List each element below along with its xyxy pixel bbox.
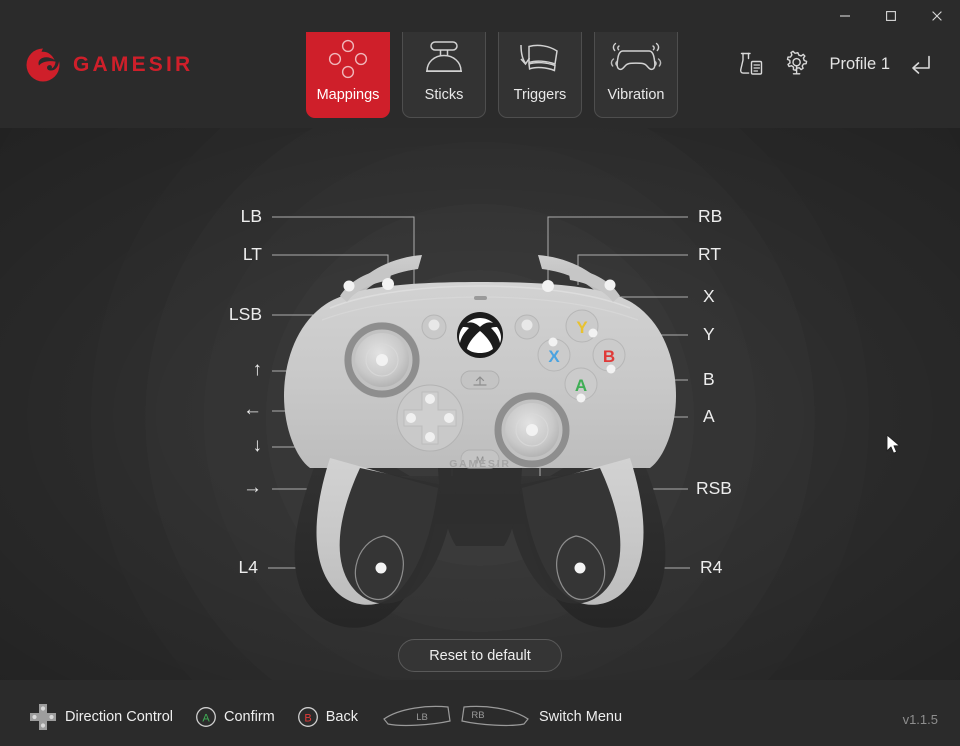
tab-label: Vibration bbox=[608, 87, 665, 103]
svg-text:LB: LB bbox=[416, 712, 428, 723]
label-lsb[interactable]: LSB bbox=[178, 304, 262, 325]
label-lt[interactable]: LT bbox=[178, 244, 262, 265]
main-nav: Mappings Sticks bbox=[306, 18, 678, 118]
maximize-button[interactable] bbox=[868, 0, 914, 32]
svg-text:A: A bbox=[575, 376, 587, 395]
hint-back: B Back bbox=[297, 706, 358, 728]
minimize-button[interactable] bbox=[822, 0, 868, 32]
label-b[interactable]: B bbox=[703, 369, 715, 390]
label-dpad-left[interactable]: ← bbox=[178, 399, 262, 421]
svg-text:X: X bbox=[548, 347, 560, 366]
gear-icon[interactable] bbox=[783, 50, 811, 78]
profile-group: Profile 1 bbox=[739, 50, 932, 78]
dpad-buttons-icon bbox=[326, 33, 370, 85]
svg-text:A: A bbox=[202, 713, 210, 725]
hint-direction-control: Direction Control bbox=[28, 702, 173, 732]
hint-switch-menu: LB RB Switch Menu bbox=[380, 703, 622, 731]
label-dpad-right[interactable]: → bbox=[178, 477, 262, 499]
svg-text:B: B bbox=[603, 347, 615, 366]
app-window: GAMESIR Mappings bbox=[0, 0, 960, 746]
svg-text:Y: Y bbox=[576, 318, 588, 337]
brand-name: GAMESIR bbox=[73, 53, 193, 77]
controller-diagram: M Y X bbox=[0, 128, 960, 680]
version-label: v1.1.5 bbox=[903, 712, 938, 727]
gamesir-logo-icon bbox=[24, 46, 62, 84]
tab-mappings[interactable]: Mappings bbox=[306, 18, 390, 118]
label-rb[interactable]: RB bbox=[698, 206, 722, 227]
label-r4[interactable]: R4 bbox=[700, 557, 722, 578]
return-arrow-icon[interactable] bbox=[908, 53, 932, 75]
label-a[interactable]: A bbox=[703, 406, 715, 427]
tab-label: Mappings bbox=[317, 87, 380, 103]
label-rt[interactable]: RT bbox=[698, 244, 721, 265]
brand: GAMESIR bbox=[24, 46, 193, 84]
label-l4[interactable]: L4 bbox=[178, 557, 258, 578]
label-x[interactable]: X bbox=[703, 286, 715, 307]
label-y[interactable]: Y bbox=[703, 324, 715, 345]
hint-label: Back bbox=[326, 709, 358, 725]
hint-label: Confirm bbox=[224, 709, 275, 725]
tab-vibration[interactable]: Vibration bbox=[594, 18, 678, 118]
footer-hints: Direction Control A Confirm B Back bbox=[0, 688, 960, 746]
b-button-icon: B bbox=[297, 706, 319, 728]
label-dpad-up[interactable]: ↑ bbox=[178, 359, 262, 381]
calibrate-document-icon[interactable] bbox=[739, 50, 765, 78]
hint-confirm: A Confirm bbox=[195, 706, 275, 728]
title-bar bbox=[0, 0, 960, 32]
hint-label: Direction Control bbox=[65, 709, 173, 725]
label-lb[interactable]: LB bbox=[178, 206, 262, 227]
tab-label: Sticks bbox=[425, 87, 464, 103]
close-button[interactable] bbox=[914, 0, 960, 32]
reset-to-default-button[interactable]: Reset to default bbox=[398, 639, 562, 672]
lb-rb-bumper-icon: LB RB bbox=[380, 703, 532, 731]
label-rsb[interactable]: RSB bbox=[696, 478, 732, 499]
tab-label: Triggers bbox=[514, 87, 567, 103]
hint-label: Switch Menu bbox=[539, 709, 622, 725]
dpad-icon bbox=[28, 702, 58, 732]
controller-stage: M Y X bbox=[0, 128, 960, 680]
svg-text:RB: RB bbox=[471, 710, 484, 721]
device-brand-text: GAMESIR bbox=[0, 458, 960, 470]
label-dpad-down[interactable]: ↓ bbox=[178, 435, 262, 457]
tab-sticks[interactable]: Sticks bbox=[402, 18, 486, 118]
controller-vibration-icon bbox=[609, 33, 663, 85]
svg-text:B: B bbox=[304, 713, 311, 725]
trigger-icon bbox=[515, 33, 565, 85]
profile-name[interactable]: Profile 1 bbox=[829, 55, 890, 74]
analog-stick-icon bbox=[420, 33, 468, 85]
a-button-icon: A bbox=[195, 706, 217, 728]
controller-svg: M Y X bbox=[0, 128, 960, 680]
tab-triggers[interactable]: Triggers bbox=[498, 18, 582, 118]
